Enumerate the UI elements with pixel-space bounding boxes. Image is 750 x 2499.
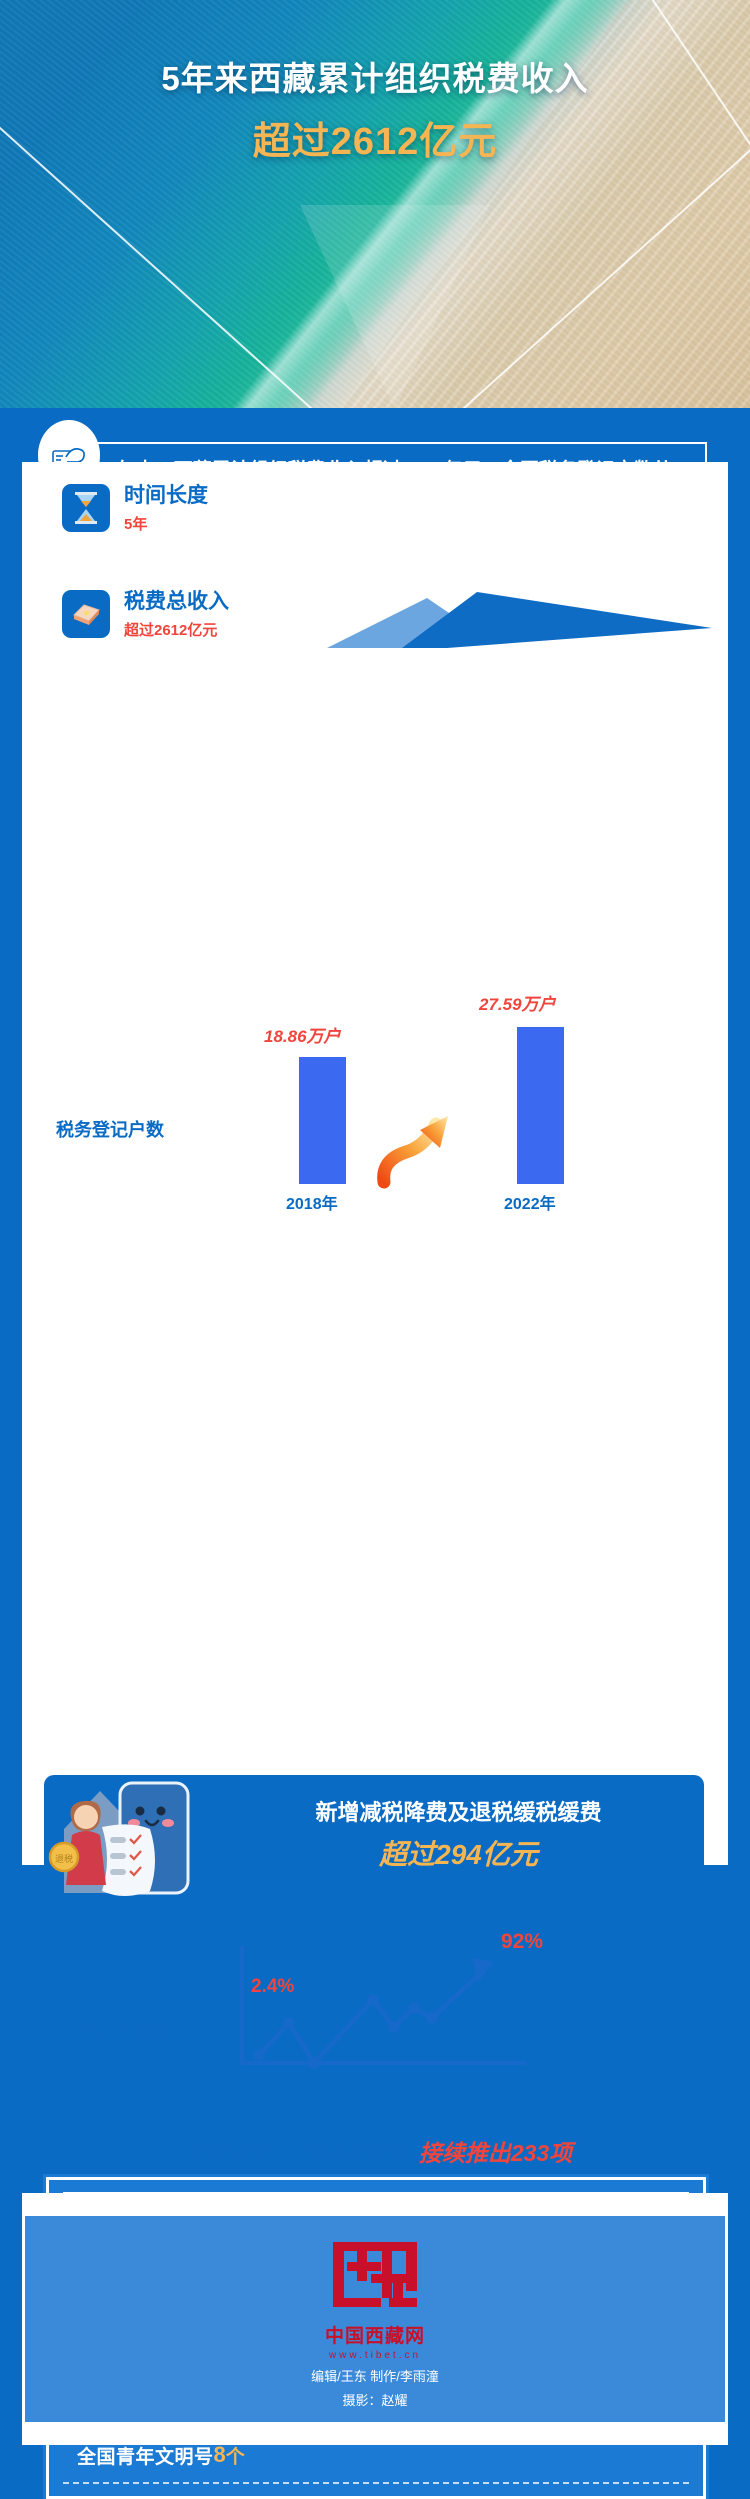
banner-line-1: 新增减税降费及退税缓税缓费 bbox=[229, 1795, 688, 1827]
line-chart-online-rate: 线上办税率 2.4% 92% bbox=[46, 1930, 706, 2130]
mountain-peak-decoration bbox=[327, 590, 712, 650]
honor-unit: 个 bbox=[226, 2442, 245, 2469]
honor-number: 8 bbox=[214, 2442, 226, 2468]
stat-total-revenue: 税费总收入 超过2612亿元 bbox=[62, 590, 229, 640]
noncontact-line: “非接触式”办税缴费事项接续推出233项 bbox=[46, 2134, 706, 2168]
girl-with-coin-and-checklist-icon: 退税 bbox=[42, 1769, 212, 1904]
money-stack-icon bbox=[62, 590, 110, 638]
site-url: www.tibet.cn bbox=[25, 2350, 725, 2361]
footer-panel: 中国西藏网 www.tibet.cn 编辑/王东 制作/李雨潼 摄影：赵耀 bbox=[22, 2213, 728, 2425]
stat-label: 税费总收入 bbox=[124, 590, 229, 614]
noncontact-prefix: “非接触式”办税缴费事项 bbox=[180, 2143, 411, 2166]
stat-value: 超过2612亿元 bbox=[124, 619, 229, 640]
stat-label: 时间长度 bbox=[124, 484, 208, 508]
honor-text: 全国青年文明号 bbox=[77, 2442, 214, 2469]
bar-chart-registrations: 税务登记户数 18.86万户 27.59万户 2018年 2022年 bbox=[46, 982, 706, 1232]
banner-line-2: 超过294亿元 bbox=[229, 1833, 688, 1873]
stat-value: 5年 bbox=[124, 513, 208, 534]
growth-arrow-icon bbox=[376, 1094, 476, 1189]
site-name: 中国西藏网 bbox=[25, 2321, 725, 2348]
bar-label-2018: 18.86万户 bbox=[264, 1022, 341, 1047]
noncontact-highlight: 接续推出233项 bbox=[419, 2140, 572, 2166]
bar-category-2018: 2018年 bbox=[286, 1190, 338, 1214]
page-subtitle: 超过2612亿元 bbox=[0, 110, 750, 165]
hero-banner: 5年来西藏累计组织税费收入 超过2612亿元 bbox=[0, 0, 750, 408]
footer-logo-block: 中国西藏网 www.tibet.cn bbox=[25, 2238, 725, 2361]
credit-photographer: 摄影：赵耀 bbox=[25, 2390, 725, 2409]
credit-editor: 编辑/王东 制作/李雨潼 bbox=[25, 2366, 725, 2385]
hourglass-icon bbox=[62, 484, 110, 532]
tibet-net-logo-icon bbox=[327, 2238, 423, 2310]
svg-text:退税: 退税 bbox=[55, 1853, 73, 1864]
bar-2018 bbox=[299, 1057, 346, 1184]
page-title: 5年来西藏累计组织税费收入 bbox=[0, 52, 750, 100]
bar-chart-title: 税务登记户数 bbox=[56, 1116, 164, 1142]
bar-label-2022: 27.59万户 bbox=[479, 990, 556, 1015]
main-content-card: 时间长度 5年 税费总收入 超过2612亿元 税务登记户数 18.86 bbox=[22, 462, 728, 1865]
tax-reduction-banner: 退税 新增减税降费及退税缓税缓费 超过294亿元 bbox=[44, 1775, 704, 1902]
line-chart-svg bbox=[46, 1938, 706, 2113]
stat-time-length: 时间长度 5年 bbox=[62, 484, 208, 534]
bar-2022 bbox=[517, 1027, 564, 1184]
bar-category-2022: 2022年 bbox=[504, 1190, 556, 1214]
hero-text-block: 5年来西藏累计组织税费收入 超过2612亿元 bbox=[0, 52, 750, 165]
